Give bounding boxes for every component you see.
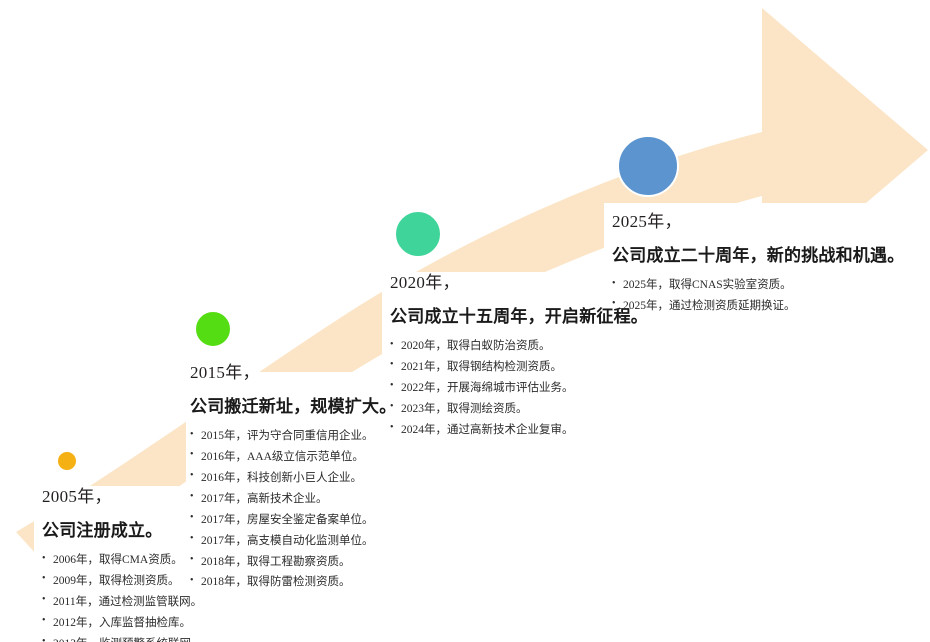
- list-item: 2006年，取得CMA资质。: [42, 550, 203, 571]
- list-item: 2017年，高支模自动化监测单位。: [190, 531, 396, 552]
- milestone-year-2020: 2020年，: [390, 268, 648, 293]
- list-item: 2015年，评为守合同重信用企业。: [190, 426, 396, 447]
- list-item: 2022年，开展海绵城市评估业务。: [390, 378, 648, 399]
- milestone-marker-2020: [394, 210, 442, 258]
- list-item: 2013年，监测预警系统联网。: [42, 634, 203, 642]
- milestone-2020: 2020年， 公司成立十五周年，开启新征程。 2020年，取得白蚁防治资质。 2…: [390, 210, 648, 441]
- milestone-marker-2025: [617, 135, 679, 197]
- milestone-2005: 2005年， 公司注册成立。 2006年，取得CMA资质。 2009年，取得检测…: [42, 450, 203, 642]
- list-item: 2024年，通过高新技术企业复审。: [390, 420, 648, 441]
- list-item: 2009年，取得检测资质。: [42, 571, 203, 592]
- milestone-marker-2015: [194, 310, 232, 348]
- list-item: 2018年，取得工程勘察资质。: [190, 552, 396, 573]
- milestone-year-2005: 2005年，: [42, 482, 203, 507]
- list-item: 2021年，取得钢结构检测资质。: [390, 357, 648, 378]
- milestone-year-2015: 2015年，: [190, 358, 396, 383]
- list-item: 2017年，高新技术企业。: [190, 489, 396, 510]
- list-item: 2025年，通过检测资质延期换证。: [612, 296, 904, 317]
- milestone-marker-2005: [56, 450, 78, 472]
- list-item: 2023年，取得测绘资质。: [390, 399, 648, 420]
- milestone-bullets-2020: 2020年，取得白蚁防治资质。 2021年，取得钢结构检测资质。 2022年，开…: [390, 336, 648, 441]
- list-item: 2017年，房屋安全鉴定备案单位。: [190, 510, 396, 531]
- milestone-headline-2005: 公司注册成立。: [42, 516, 203, 541]
- milestone-year-2025: 2025年，: [612, 207, 904, 232]
- list-item: 2011年，通过检测监管联网。: [42, 592, 203, 613]
- milestone-bullets-2025: 2025年，取得CNAS实验室资质。 2025年，通过检测资质延期换证。: [612, 275, 904, 317]
- milestone-bullets-2015: 2015年，评为守合同重信用企业。 2016年，AAA级立信示范单位。 2016…: [190, 426, 396, 593]
- list-item: 2018年，取得防雷检测资质。: [190, 572, 396, 593]
- milestone-2015: 2015年， 公司搬迁新址，规模扩大。 2015年，评为守合同重信用企业。 20…: [190, 310, 396, 593]
- list-item: 2012年，入库监督抽检库。: [42, 613, 203, 634]
- list-item: 2016年，科技创新小巨人企业。: [190, 468, 396, 489]
- milestone-headline-2015: 公司搬迁新址，规模扩大。: [190, 392, 396, 417]
- list-item: 2016年，AAA级立信示范单位。: [190, 447, 396, 468]
- milestone-2025: 2025年， 公司成立二十周年，新的挑战和机遇。 2025年，取得CNAS实验室…: [612, 135, 904, 317]
- milestone-headline-2025: 公司成立二十周年，新的挑战和机遇。: [612, 241, 904, 266]
- list-item: 2020年，取得白蚁防治资质。: [390, 336, 648, 357]
- list-item: 2025年，取得CNAS实验室资质。: [612, 275, 904, 296]
- timeline-infographic: 2005年， 公司注册成立。 2006年，取得CMA资质。 2009年，取得检测…: [0, 0, 930, 642]
- milestone-headline-2020: 公司成立十五周年，开启新征程。: [390, 302, 648, 327]
- milestone-bullets-2005: 2006年，取得CMA资质。 2009年，取得检测资质。 2011年，通过检测监…: [42, 550, 203, 642]
